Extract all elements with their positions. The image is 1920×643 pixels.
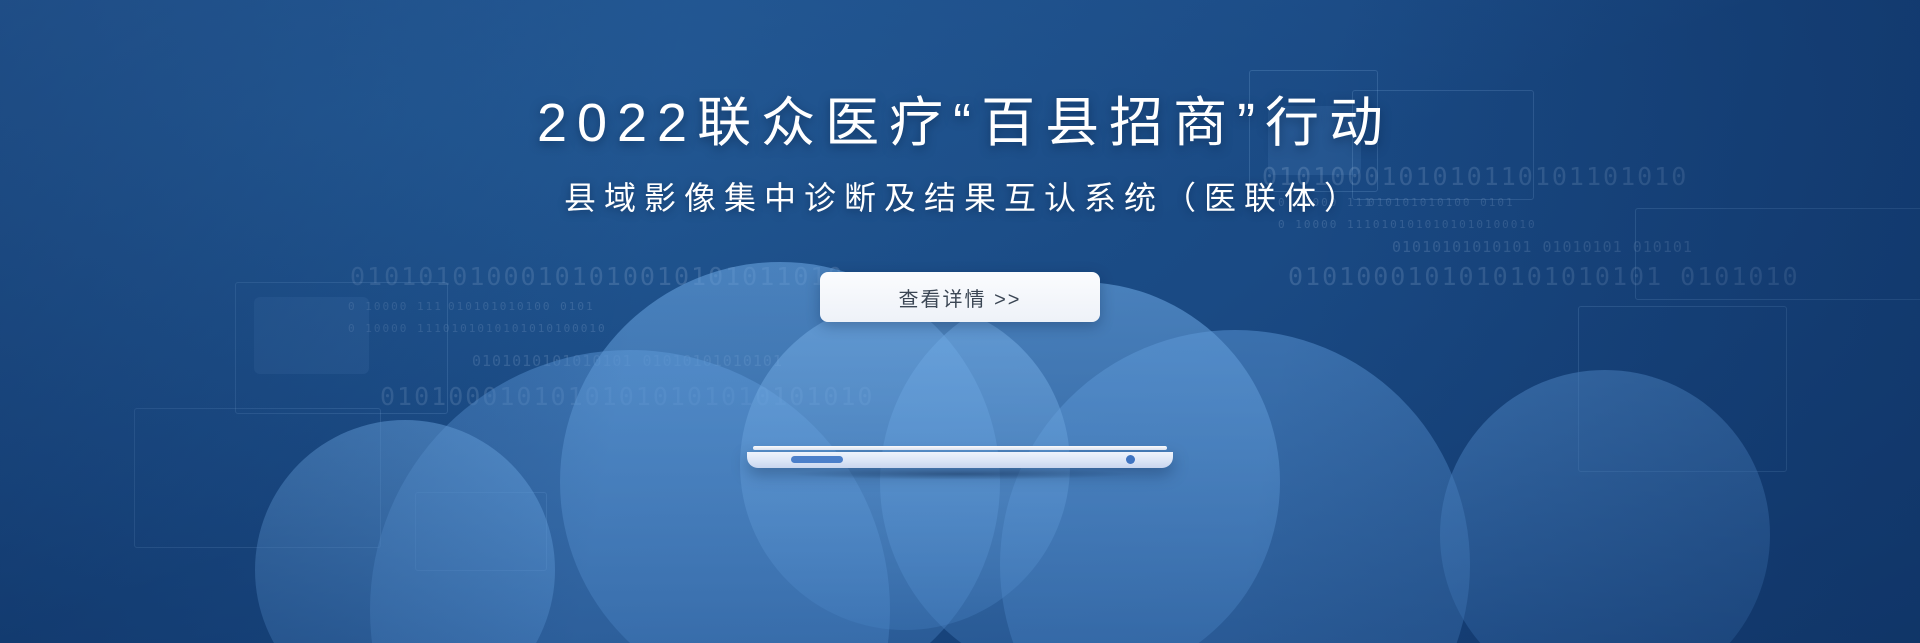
promo-banner: 01010101000101010010101011010 0 10000 11…: [0, 0, 1920, 643]
banner-content: 2022联众医疗“百县招商”行动 县域影像集中诊断及结果互认系统（医联体） 查看…: [0, 0, 1920, 643]
view-details-button[interactable]: 查看详情 >>: [820, 272, 1100, 322]
page-title: 2022联众医疗“百县招商”行动: [527, 96, 1393, 150]
page-subtitle: 县域影像集中诊断及结果互认系统（医联体）: [556, 182, 1364, 214]
